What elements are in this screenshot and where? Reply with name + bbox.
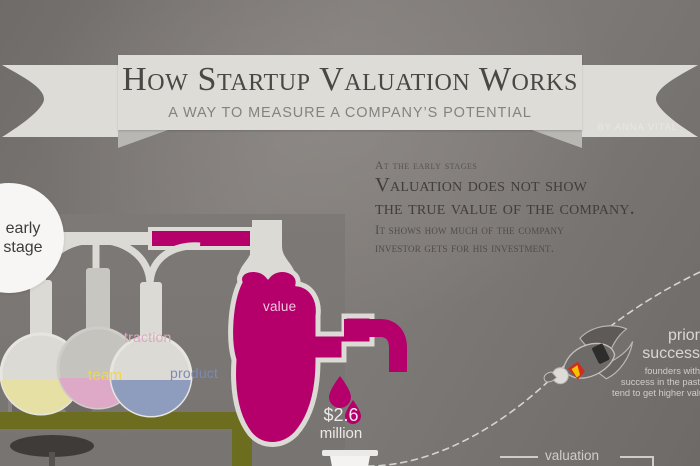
early-stage-bubble-text: early stage (0, 219, 43, 257)
collection-beaker (318, 450, 398, 466)
copy-line-1: Valuation does not show (375, 174, 695, 197)
page-subtitle: A WAY TO MEASURE A COMPANY’S POTENTIAL (118, 105, 582, 121)
copy-line-2: the true value of the company. (375, 197, 695, 220)
label-product: product (170, 365, 218, 381)
early-stage-line2: stage (3, 238, 42, 257)
author-byline: BY ANNA VITAL (597, 122, 678, 133)
label-team: team (88, 367, 122, 384)
valuation-axis-tick (652, 456, 654, 466)
copy-line-4: investor gets for his investment. (375, 240, 695, 256)
valuation-axis-line-left (500, 456, 538, 458)
valuation-amount-unit: million (306, 425, 376, 442)
valuation-amount-value: $2.6 (323, 405, 358, 425)
prior-success-title-line2: success (612, 345, 700, 363)
prior-success-description: founders with success in the past tend t… (612, 366, 700, 399)
label-traction: traction (124, 329, 172, 345)
valuation-axis-label: valuation (545, 448, 599, 463)
label-value: value (263, 299, 296, 314)
title-ribbon: How Startup Valuation Works A WAY TO MEA… (0, 55, 700, 145)
headline-copy-block: At the early stages Valuation does not s… (375, 160, 695, 255)
valuation-axis-line-right (620, 456, 654, 458)
condenser-arch-right (150, 246, 200, 286)
prior-success-desc-line2: success in the past (612, 377, 700, 388)
early-stage-line1: early (3, 219, 42, 238)
prior-success-desc-line1: founders with (612, 366, 700, 377)
infographic-canvas: team traction product value $2.6 million (0, 0, 700, 466)
prior-success-callout: prior success founders with success in t… (612, 327, 700, 399)
copy-line-3: It shows how much of the company (375, 222, 695, 238)
valuation-amount: $2.6 million (306, 406, 376, 442)
copy-eyebrow: At the early stages (375, 160, 695, 172)
prior-success-title-line1: prior (612, 327, 700, 345)
page-title: How Startup Valuation Works (118, 57, 582, 103)
prior-success-desc-line3: tend to get higher valuations (612, 388, 700, 399)
